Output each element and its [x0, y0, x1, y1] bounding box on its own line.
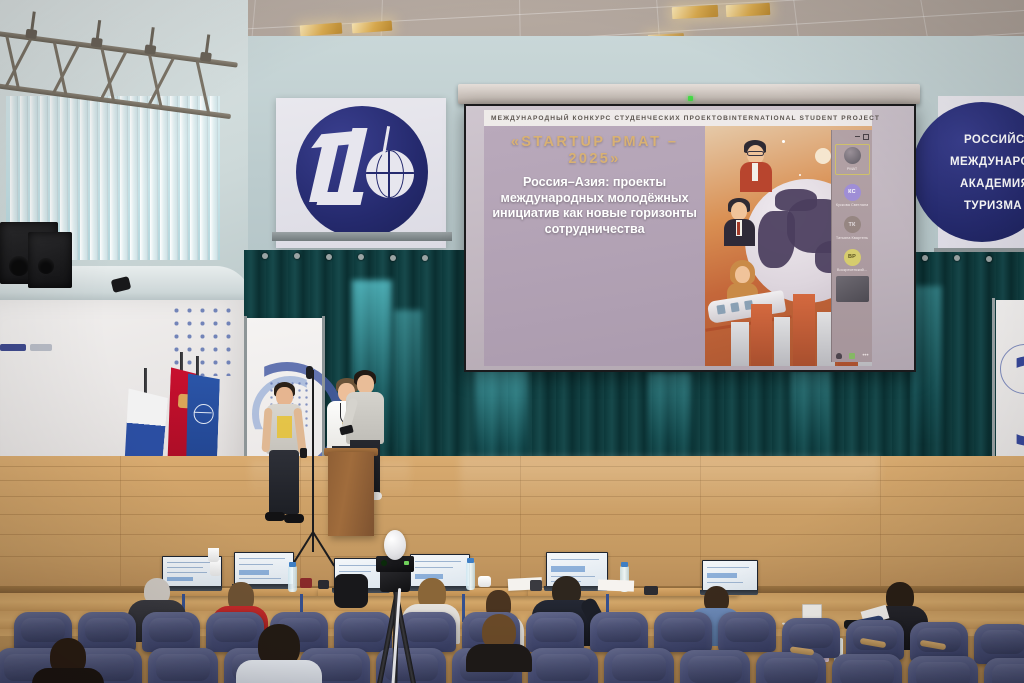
- projected-slide: МЕЖДУНАРОДНЫЙ КОНКУРС СТУДЕНЧЕСКИХ ПРОЕК…: [466, 106, 914, 370]
- audience-member-foreground: [236, 624, 322, 683]
- auditorium-seat[interactable]: [528, 648, 598, 683]
- presenter-shoe: [265, 512, 285, 521]
- illustration-star: [782, 140, 785, 143]
- academy-name-banner: РОССИЙСКАЯ МЕЖДУНАРОДНАЯ АКАДЕМИЯ ТУРИЗМ…: [938, 96, 1024, 248]
- illustration-planet: [815, 148, 831, 164]
- slide-body: «STARTUP РМАТ – 2025» Россия–Азия: проек…: [484, 126, 872, 366]
- auditorium-seat[interactable]: [526, 612, 584, 652]
- video-call-participant-tile[interactable]: ВР Воскресенский...: [836, 249, 869, 273]
- projection-screen-housing: [458, 84, 920, 104]
- illustration-student: [739, 140, 773, 192]
- academy-banner-line: РОССИЙСКАЯ: [964, 134, 1024, 146]
- stage-floor: [0, 456, 1024, 590]
- illustration-star: [799, 174, 801, 176]
- audience-member-foreground: [464, 614, 534, 670]
- auditorium-seat[interactable]: [984, 658, 1024, 683]
- screen-status-led: [688, 96, 693, 101]
- slide-header-right: INTERNATIONAL STUDENT PROJECT: [729, 115, 880, 122]
- banner-frame-bar: [272, 232, 452, 241]
- ceiling-light: [672, 5, 719, 19]
- rmat-accent-bar: [30, 344, 52, 351]
- presenter-shoe: [284, 514, 304, 523]
- slide-title: «STARTUP РМАТ – 2025»: [490, 134, 699, 168]
- audience-shoulders: [32, 668, 104, 683]
- ito-globe: [366, 150, 414, 198]
- more-options-icon[interactable]: •••: [862, 353, 868, 359]
- microphone-icon[interactable]: [836, 353, 842, 359]
- camera-icon[interactable]: [849, 353, 855, 359]
- audience-member-foreground: [32, 638, 104, 683]
- academy-banner-line: МЕЖДУНАРОДНАЯ: [950, 156, 1024, 168]
- presenter-clicker: [300, 448, 307, 458]
- video-call-participant-tile[interactable]: РМАТ: [835, 144, 870, 175]
- participant-name: РМАТ: [847, 166, 857, 171]
- microphone-windscreen: [384, 530, 406, 560]
- microphone-icon: [306, 366, 313, 379]
- conference-hall-photo: РОССИЙСКАЯ МЕЖДУНАРОДНАЯ АКАДЕМИЯ ТУРИЗМ…: [0, 0, 1024, 683]
- presenter-gray-tshirt: [262, 382, 306, 530]
- projection-screen: МЕЖДУНАРОДНЫЙ КОНКУРС СТУДЕНЧЕСКИХ ПРОЕК…: [464, 104, 916, 372]
- academy-banner-line: ТУРИЗМА: [964, 200, 1022, 212]
- desk-item: [300, 578, 312, 588]
- auditorium-seat[interactable]: [908, 656, 978, 683]
- paper-cup: [478, 576, 491, 587]
- bottle-cap: [289, 562, 296, 567]
- paper-documents: [598, 579, 634, 591]
- auditorium-seat[interactable]: [756, 652, 826, 683]
- microphone-stand-pole: [312, 370, 314, 542]
- ceiling-light: [300, 23, 343, 37]
- paper-cup: [210, 560, 221, 576]
- maximize-icon[interactable]: [863, 134, 869, 140]
- microphone-stand-legs: [298, 532, 330, 554]
- audience-shoulders: [236, 660, 322, 683]
- ceiling-light: [726, 3, 771, 17]
- water-bottle: [466, 562, 475, 590]
- paper-cup: [208, 548, 219, 562]
- podium: [328, 452, 374, 536]
- participant-name: Воскресенский...: [837, 267, 867, 272]
- pa-speaker: [28, 232, 72, 288]
- auditorium-seat[interactable]: [148, 648, 218, 683]
- participant-avatar: ВР: [844, 249, 861, 266]
- participant-avatar: [844, 147, 861, 164]
- audience-shoulders: [466, 644, 532, 672]
- slide-subtitle: Россия–Азия: проекты международных молод…: [490, 175, 699, 237]
- auditorium-seat[interactable]: [142, 612, 200, 652]
- auditorium-seat[interactable]: [680, 650, 750, 683]
- video-call-participant-tile[interactable]: ТК Татьяна Квартель: [836, 216, 869, 240]
- auditorium-seat[interactable]: [718, 612, 776, 652]
- video-call-room-thumbnail[interactable]: [836, 276, 869, 302]
- participant-avatar: КС: [844, 184, 861, 201]
- video-call-controls[interactable]: •••: [832, 353, 872, 359]
- participant-name: Кускова Светлана: [836, 202, 869, 207]
- camera-bag: [334, 574, 368, 608]
- desk-item: [318, 580, 329, 589]
- presenter-trousers: [269, 450, 299, 514]
- auditorium-seat[interactable]: [654, 612, 712, 652]
- auditorium-seat[interactable]: [604, 648, 674, 683]
- slide-header: МЕЖДУНАРОДНЫЙ КОНКУРС СТУДЕНЧЕСКИХ ПРОЕК…: [484, 110, 872, 126]
- water-bottle: [288, 566, 297, 592]
- auditorium-seat[interactable]: [590, 612, 648, 652]
- rmat-accent-bar: [0, 344, 26, 351]
- video-call-participant-tile[interactable]: КС Кускова Светлана: [836, 184, 869, 208]
- slide-illustration: РМАТ КС Кускова Светлана ТК Татьяна Квар…: [705, 126, 872, 366]
- illustration-student: [724, 198, 756, 246]
- ito-mark-letter: [316, 192, 363, 205]
- participant-name: Татьяна Квартель: [836, 235, 868, 240]
- camera-tripod[interactable]: [352, 530, 438, 683]
- minimize-icon[interactable]: [855, 136, 860, 138]
- ceiling-light: [352, 21, 393, 34]
- ito-logo-banner: [276, 98, 446, 248]
- auditorium-seat[interactable]: [832, 654, 902, 683]
- video-call-window-controls[interactable]: [832, 130, 872, 143]
- slide-text-panel: «STARTUP РМАТ – 2025» Россия–Азия: проек…: [484, 126, 705, 366]
- presenter-shirt-print: [277, 416, 292, 438]
- bottle-cap: [621, 562, 628, 567]
- video-call-sidebar[interactable]: РМАТ КС Кускова Светлана ТК Татьяна Квар…: [831, 130, 872, 362]
- bottle-cap: [467, 558, 474, 563]
- illustration-glasses: [747, 151, 764, 156]
- slide-header-left: МЕЖДУНАРОДНЫЙ КОНКУРС СТУДЕНЧЕСКИХ ПРОЕК…: [491, 115, 729, 122]
- desk-item: [644, 586, 658, 595]
- participant-avatar: ТК: [844, 216, 861, 233]
- academy-banner-line: АКАДЕМИЯ: [960, 178, 1024, 190]
- ito-logo-circle: [296, 106, 428, 238]
- rollup-globe: [1000, 344, 1024, 394]
